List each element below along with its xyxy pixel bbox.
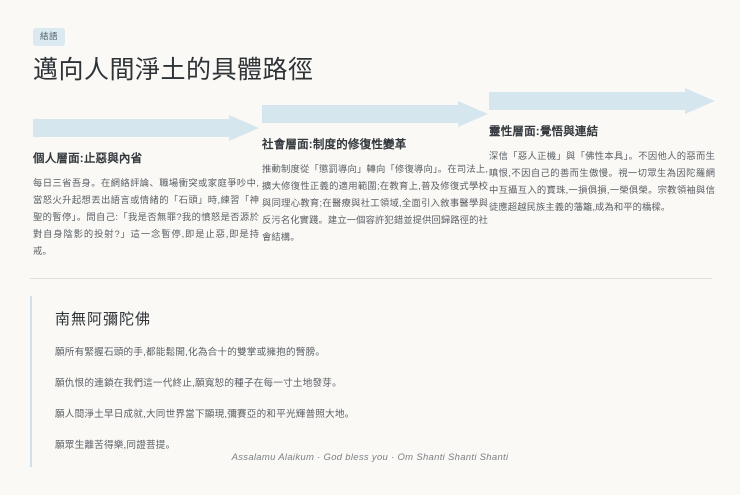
right-arrow-icon	[262, 101, 488, 127]
stage-body: 推動制度從「懲罰導向」轉向「修復導向」。在司法上,擴大修復性正義的適用範圍;在教…	[262, 161, 488, 247]
stage-column-social: 社會層面:制度的修復性變革 推動制度從「懲罰導向」轉向「修復導向」。在司法上,擴…	[262, 88, 488, 246]
stage-body: 每日三省吾身。在網絡評論、職場衝突或家庭爭吵中,當怒火升起想丟出語言或情緒的「石…	[33, 175, 259, 261]
section-badge: 結語	[33, 28, 65, 46]
slide-root: 結語 邁向人間淨土的具體路徑 個人層面:止惡與內省 每日三省吾身。在網絡評論、職…	[0, 0, 740, 495]
stage-heading: 靈性層面:覺悟與連結	[489, 125, 715, 141]
stage-body: 深信「惡人正機」與「佛性本具」。不因他人的惡而生瞋恨,不因自己的善而生傲慢。視一…	[489, 148, 715, 217]
dedication-vow: 願所有緊握石頭的手,都能鬆開,化為合十的雙掌或擁抱的臂膀。	[55, 345, 712, 361]
stage-column-personal: 個人層面:止惡與內省 每日三省吾身。在網絡評論、職場衝突或家庭爭吵中,當怒火升起…	[33, 88, 259, 260]
stage-heading: 個人層面:止惡與內省	[33, 152, 259, 168]
header: 結語 邁向人間淨土的具體路徑	[33, 26, 703, 86]
section-divider	[30, 278, 712, 279]
page-title: 邁向人間淨土的具體路徑	[33, 55, 703, 86]
dedication-card: 南無阿彌陀佛 願所有緊握石頭的手,都能鬆開,化為合十的雙掌或擁抱的臂膀。 願仇恨…	[30, 296, 712, 467]
stage-heading: 社會層面:制度的修復性變革	[262, 138, 488, 154]
stage-column-spiritual: 靈性層面:覺悟與連結 深信「惡人正機」與「佛性本具」。不因他人的惡而生瞋恨,不因…	[489, 88, 715, 216]
dedication-title: 南無阿彌陀佛	[55, 310, 712, 330]
stages-row: 個人層面:止惡與內省 每日三省吾身。在網絡評論、職場衝突或家庭爭吵中,當怒火升起…	[0, 88, 740, 268]
right-arrow-icon	[489, 88, 715, 114]
right-arrow-icon	[33, 115, 259, 141]
footer-blessing: Assalamu Alaikum · God bless you · Om Sh…	[0, 452, 740, 463]
dedication-vow: 願人間淨土早日成就,大同世界當下顯現,彌賽亞的和平光輝普照大地。	[55, 407, 712, 423]
dedication-vow: 願仇恨的連鎖在我們這一代終止,願寬恕的種子在每一寸土地發芽。	[55, 376, 712, 392]
